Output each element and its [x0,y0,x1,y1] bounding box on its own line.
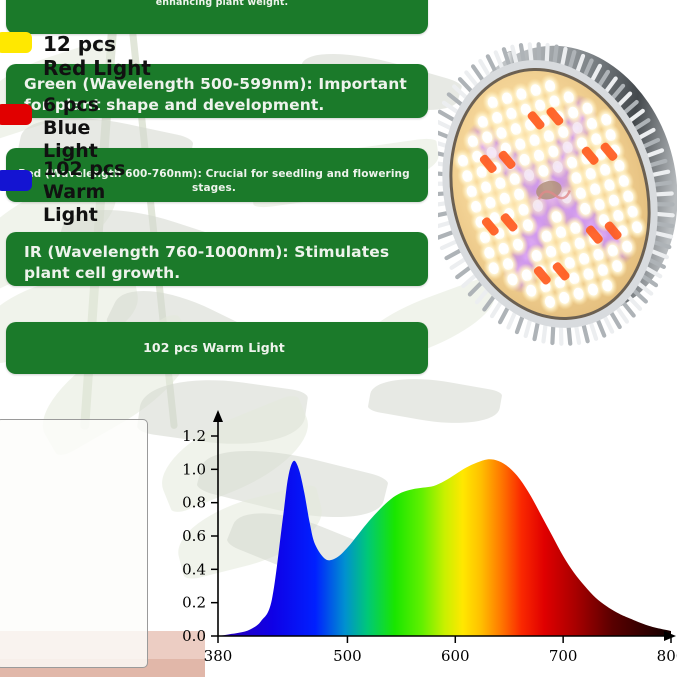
banner-ir-wavelength: IR (Wavelength 760-1000nm): Stimulates p… [6,232,428,286]
banner-ir-text: IR (Wavelength 760-1000nm): Stimulates p… [24,242,410,284]
y-tick-label: 1.2 [182,427,206,445]
y-axis-arrow [213,410,223,422]
legend-label-red-light: 12 pcs Red Light [43,32,151,80]
banner-blue-wavelength: Blue (Wavelength 430-499nm): Promotes ro… [6,0,428,34]
y-tick-label: 0.6 [182,527,206,545]
y-tick-label: 0.8 [182,494,206,512]
x-tick-label: 600 [441,647,470,665]
y-tick-label: 0.0 [182,627,206,645]
legend-swatch-yellow [0,32,32,53]
y-tick-label: 0.4 [182,560,206,578]
y-tick-label: 1.0 [182,460,206,478]
banner-blue-text: Blue (Wavelength 430-499nm): Promotes ro… [30,0,414,9]
legend-box [0,419,148,668]
product-infographic: Blue (Wavelength 430-499nm): Promotes ro… [0,0,677,677]
legend-swatch-blue [0,170,32,191]
legend-item-blue-light: 6 pcs Blue Light [0,104,99,163]
legend-item-warm-light: 102 pcs Warm Light [0,170,125,227]
banner-warm-light-text: 102 pcs Warm Light [14,340,414,356]
legend-label-blue-light: 6 pcs Blue Light [43,94,99,163]
legend-label-warm-light: 102 pcs Warm Light [43,158,125,227]
y-tick-label: 0.2 [182,594,206,612]
legend-item-red-light: 12 pcs Red Light [0,32,151,80]
spectrum-area [218,459,671,636]
x-tick-label: 700 [549,647,578,665]
legend-swatch-red [0,104,32,125]
x-tick-label: 500 [333,647,362,665]
x-tick-label: 800 [657,647,677,665]
x-tick-label: 380 [204,647,233,665]
led-grow-light-bulb [438,24,677,364]
banner-warm-light-count: 102 pcs Warm Light [6,322,428,374]
